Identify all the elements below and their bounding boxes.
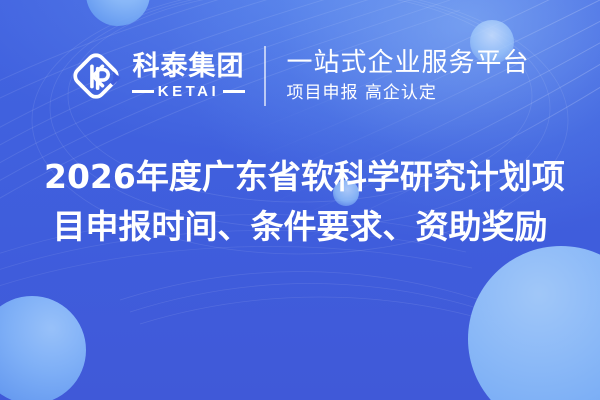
wordmark-rule-left bbox=[132, 90, 153, 93]
brand-name-en: KETAI bbox=[158, 84, 219, 99]
banner-title-line-1: 2026年度广东省软科学研究计划项 bbox=[44, 152, 556, 202]
wordmark-rule-right bbox=[223, 90, 244, 93]
banner-header: 科泰集团 KETAI 一站式企业服务平台 项目申报 高企认定 bbox=[0, 34, 600, 118]
bottom-left-circle bbox=[0, 296, 86, 400]
brand-wordmark: 科泰集团 KETAI bbox=[132, 53, 244, 99]
brand-logo: 科泰集团 KETAI bbox=[70, 50, 244, 102]
slogan-sub: 项目申报 高企认定 bbox=[286, 82, 529, 104]
brand-name-cn: 科泰集团 bbox=[132, 53, 244, 81]
brand-name-en-row: KETAI bbox=[132, 84, 244, 99]
header-divider bbox=[264, 46, 266, 106]
bottom-right-circle bbox=[468, 246, 600, 400]
promo-banner: 科泰集团 KETAI 一站式企业服务平台 项目申报 高企认定 2026年度广东省… bbox=[0, 0, 600, 400]
top-left-circle bbox=[86, 0, 150, 26]
banner-title: 2026年度广东省软科学研究计划项 目申报时间、条件要求、资助奖励 bbox=[0, 152, 600, 252]
slogan: 一站式企业服务平台 项目申报 高企认定 bbox=[286, 48, 529, 105]
slogan-main: 一站式企业服务平台 bbox=[286, 48, 529, 79]
ketai-diamond-kp-monogram-icon bbox=[70, 50, 122, 102]
banner-title-line-2: 目申报时间、条件要求、资助奖励 bbox=[44, 202, 556, 252]
